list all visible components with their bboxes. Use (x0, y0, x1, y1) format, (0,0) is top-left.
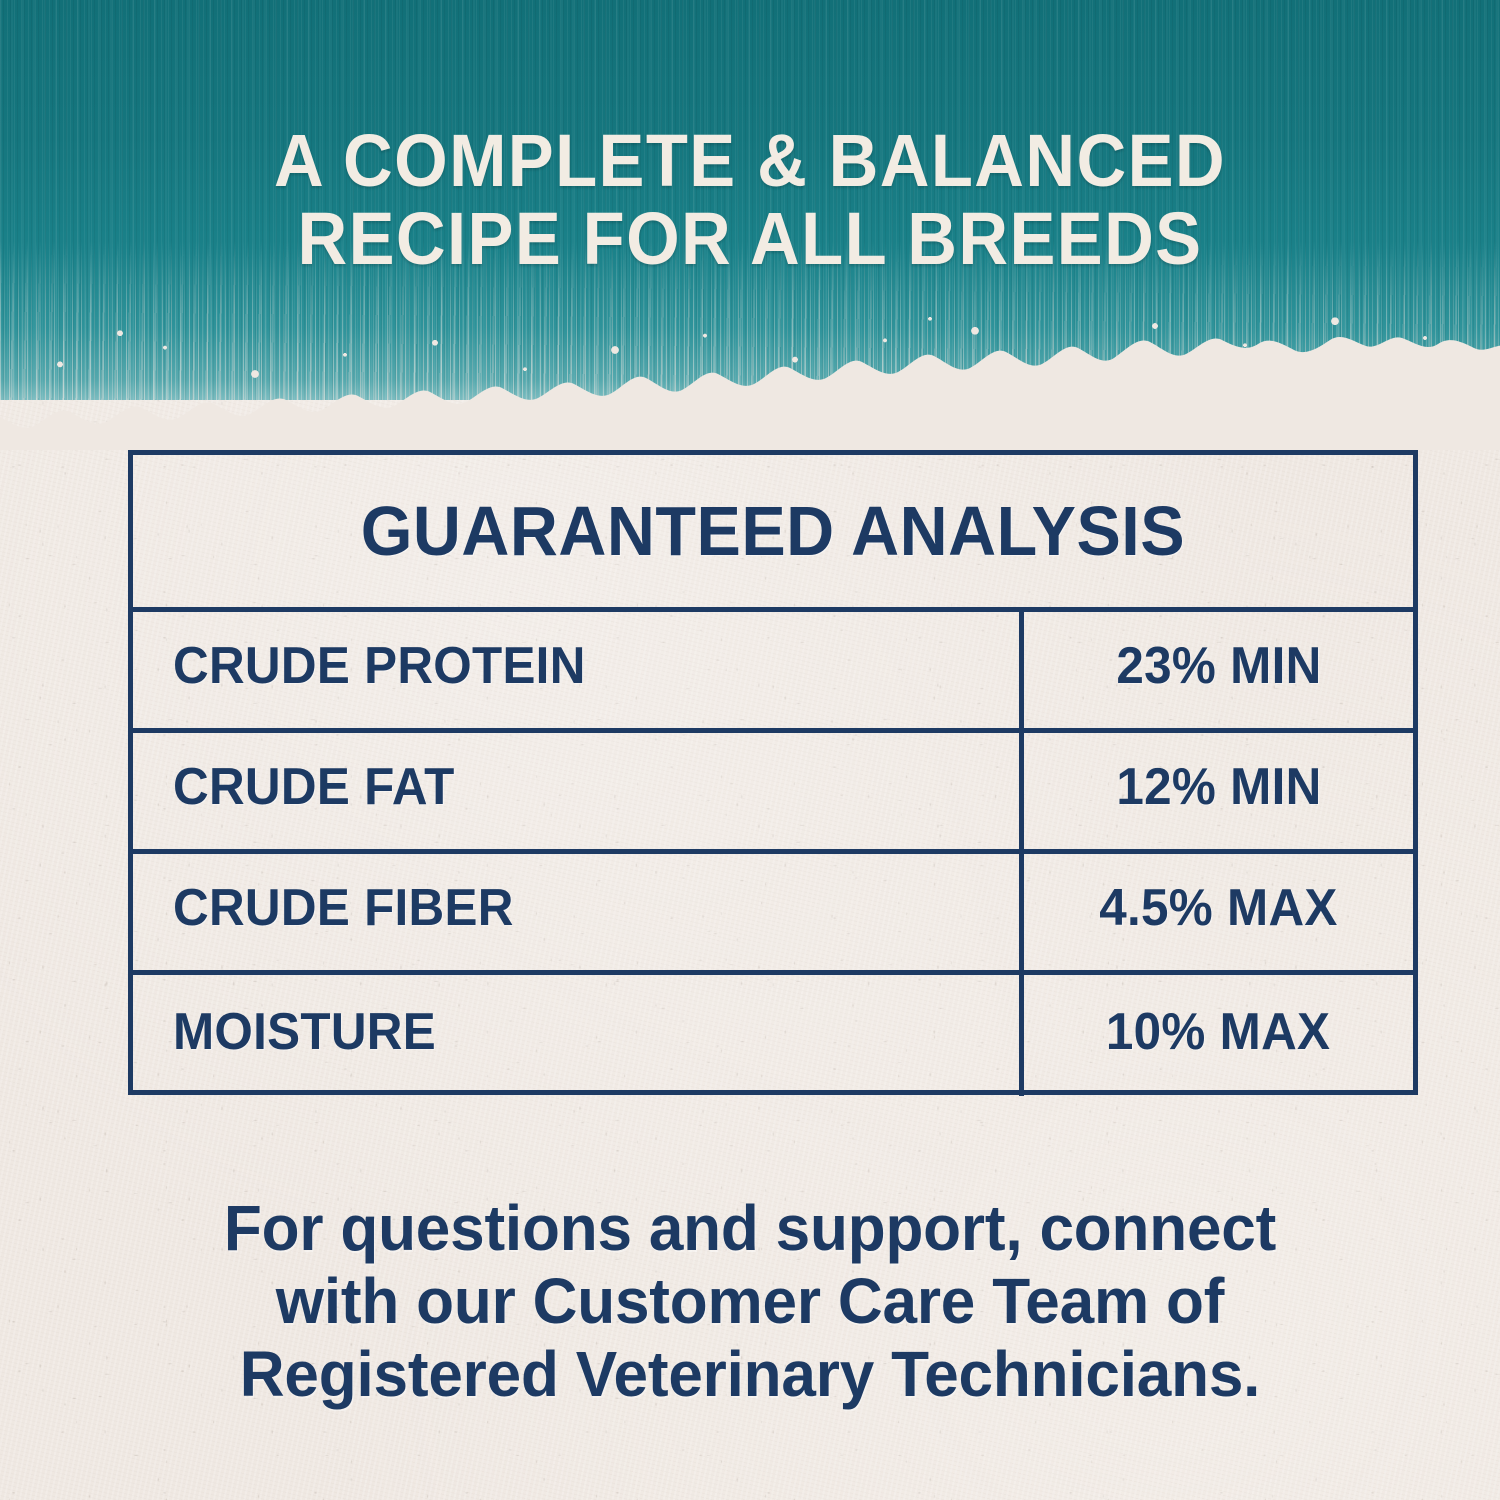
nutrient-label-cell: CRUDE PROTEIN (133, 612, 1024, 728)
nutrient-label-cell: MOISTURE (133, 975, 1024, 1096)
guaranteed-analysis-title: GUARANTEED ANALYSIS (361, 491, 1185, 571)
nutrient-amount: 23% MIN (1116, 636, 1321, 696)
nutrient-label: CRUDE PROTEIN (173, 636, 586, 696)
nutrient-amount-cell: 12% MIN (1024, 733, 1413, 849)
nutrient-amount: 12% MIN (1116, 757, 1321, 817)
nutrient-amount-cell: 4.5% MAX (1024, 854, 1413, 970)
nutrient-label-cell: CRUDE FAT (133, 733, 1024, 849)
nutrient-amount-cell: 23% MIN (1024, 612, 1413, 728)
nutrient-amount: 10% MAX (1106, 1002, 1330, 1062)
table-row: CRUDE PROTEIN 23% MIN (133, 612, 1413, 733)
torn-paper-edge (0, 250, 1500, 450)
table-row: CRUDE FAT 12% MIN (133, 733, 1413, 854)
nutrient-amount: 4.5% MAX (1099, 878, 1337, 938)
nutrient-label: CRUDE FIBER (173, 878, 514, 938)
guaranteed-analysis-title-row: GUARANTEED ANALYSIS (133, 455, 1413, 612)
nutrient-label-cell: CRUDE FIBER (133, 854, 1024, 970)
nutrient-amount-cell: 10% MAX (1024, 975, 1413, 1096)
page-headline: A COMPLETE & BALANCED RECIPE FOR ALL BRE… (53, 122, 1448, 278)
table-row: CRUDE FIBER 4.5% MAX (133, 854, 1413, 975)
customer-support-text: For questions and support, connect with … (168, 1192, 1332, 1411)
table-row: MOISTURE 10% MAX (133, 975, 1413, 1096)
guaranteed-analysis-table: GUARANTEED ANALYSIS CRUDE PROTEIN 23% MI… (128, 450, 1418, 1095)
product-packaging-panel: A COMPLETE & BALANCED RECIPE FOR ALL BRE… (0, 0, 1500, 1500)
nutrient-label: CRUDE FAT (173, 757, 455, 817)
nutrient-label: MOISTURE (173, 1002, 436, 1062)
